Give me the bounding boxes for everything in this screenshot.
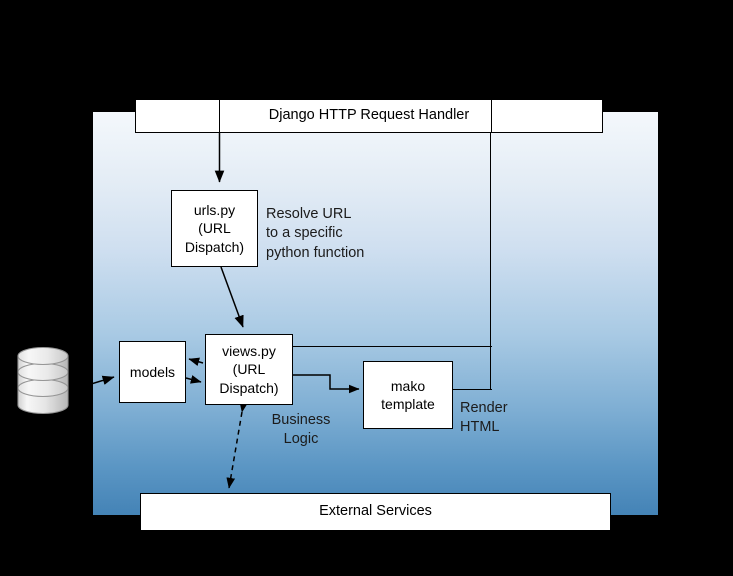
database-icon <box>18 348 68 414</box>
urls-box-line-3: Dispatch) <box>185 238 244 256</box>
diagram-canvas: Django HTTP Request Handler urls.py (URL… <box>0 0 733 576</box>
node-models[interactable]: models <box>119 341 186 403</box>
views-box-line-2: (URL <box>233 360 266 378</box>
views-box-line-3: Dispatch) <box>219 379 278 397</box>
annotation-resolve-line-1: Resolve URL <box>266 205 364 224</box>
connector-views-to-bus-horizontal <box>292 346 492 347</box>
annotation-business-logic: Business Logic <box>268 411 334 450</box>
annotation-render-html: Render HTML <box>460 399 508 438</box>
connector-mako-to-bus-horizontal <box>452 389 492 390</box>
annotation-render-line-2: HTML <box>460 418 508 437</box>
node-mako-template[interactable]: mako template <box>363 361 453 429</box>
annotation-resolve-line-2: to a specific <box>266 224 364 243</box>
external-box-label: External Services <box>319 502 432 521</box>
annotation-render-line-1: Render <box>460 399 508 418</box>
header-box-label: Django HTTP Request Handler <box>269 106 469 125</box>
annotation-resolve-line-3: python function <box>266 244 364 263</box>
views-box-line-1: views.py <box>222 342 276 360</box>
node-views-py[interactable]: views.py (URL Dispatch) <box>205 334 293 405</box>
node-external-services[interactable]: External Services <box>140 493 611 531</box>
mako-box-line-2: template <box>381 395 435 413</box>
gradient-backdrop-panel <box>93 112 658 515</box>
node-django-http-request-handler[interactable]: Django HTTP Request Handler <box>135 99 603 133</box>
annotation-business-line-1: Business <box>268 411 334 430</box>
annotation-resolve-url: Resolve URL to a specific python functio… <box>266 205 364 263</box>
annotation-business-line-2: Logic <box>268 430 334 449</box>
urls-box-line-2: (URL <box>198 219 231 237</box>
models-box-label: models <box>130 363 175 381</box>
header-box-divider-left <box>219 99 220 133</box>
urls-box-line-1: urls.py <box>194 201 235 219</box>
mako-box-line-1: mako <box>391 377 425 395</box>
node-urls-py[interactable]: urls.py (URL Dispatch) <box>171 190 258 267</box>
connector-response-bus-vertical <box>490 132 491 390</box>
header-box-divider-right <box>491 99 492 133</box>
